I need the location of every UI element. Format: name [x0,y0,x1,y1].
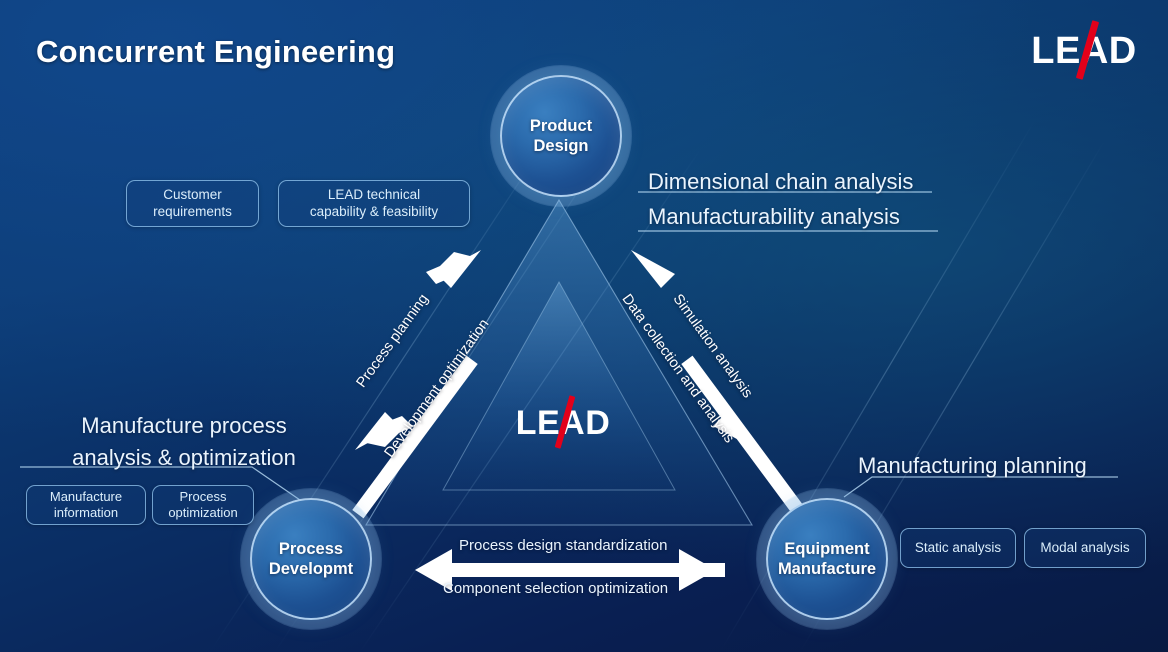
slide-canvas: Concurrent Engineering LEAD LEAD Product… [0,0,1168,652]
node-label-line2: Manufacture [778,559,876,579]
tag-line2: capability & feasibility [310,204,438,221]
tag-process-optimization[interactable]: Process optimization [152,485,254,525]
tag-modal-analysis[interactable]: Modal analysis [1024,528,1146,568]
headline-dimensional-chain-analysis: Dimensional chain analysis [648,166,913,198]
tag-static-analysis[interactable]: Static analysis [900,528,1016,568]
headline-line2: analysis & optimization [48,442,320,474]
node-product-design[interactable]: Product Design [500,75,622,197]
node-label-line1: Process [269,539,353,559]
tag-line2: information [50,505,122,521]
node-label-line1: Product [530,116,592,136]
tag-manufacture-information[interactable]: Manufacture information [26,485,146,525]
tag-lead-technical-capability[interactable]: LEAD technical capability & feasibility [278,180,470,227]
page-title: Concurrent Engineering [36,34,395,70]
headline-manufacture-process-analysis: Manufacture process analysis & optimizat… [48,410,320,474]
arrow-label-component-selection-optimization: Component selection optimization [443,580,668,597]
node-process-development[interactable]: Process Developmt [250,498,372,620]
tag-line1: Customer [153,187,232,204]
node-equipment-manufacture[interactable]: Equipment Manufacture [766,498,888,620]
tag-line1: Manufacture [50,489,122,505]
lead-logo-header: LEAD [1024,24,1144,78]
tag-line2: requirements [153,204,232,221]
tag-line1: LEAD technical [310,187,438,204]
headline-line1: Manufacture process [48,410,320,442]
node-label-line1: Equipment [778,539,876,559]
tag-line1: Process [168,489,237,505]
headline-manufacturability-analysis: Manufacturability analysis [648,201,900,233]
arrow-label-process-design-standardization: Process design standardization [459,537,667,554]
lead-logo-center: LEAD [508,398,618,448]
node-label-line2: Design [530,136,592,156]
node-label-line2: Developmt [269,559,353,579]
tag-line2: optimization [168,505,237,521]
tag-customer-requirements[interactable]: Customer requirements [126,180,259,227]
headline-manufacturing-planning: Manufacturing planning [858,450,1087,482]
